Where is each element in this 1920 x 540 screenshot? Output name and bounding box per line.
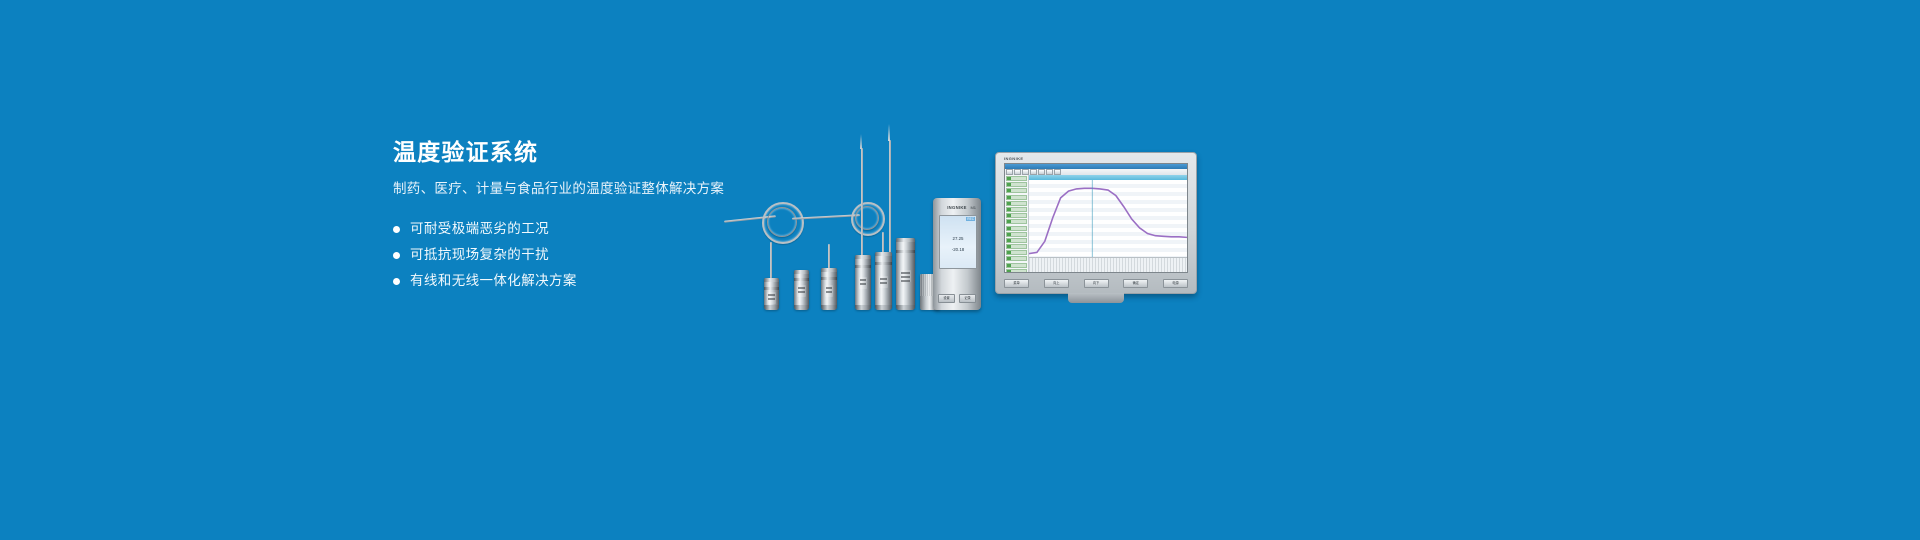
channel-row[interactable] <box>1006 244 1027 249</box>
handheld-key-left[interactable]: 设置 <box>938 294 955 303</box>
monitor-button-row: 菜单 向上 向下 确定 电源 <box>1004 278 1188 289</box>
data-logger-small-1 <box>764 278 779 310</box>
short-probe-stem <box>770 242 772 282</box>
handheld-model-label: M1 <box>970 205 976 210</box>
list-item-label: 有线和无线一体化解决方案 <box>410 272 577 290</box>
channel-row[interactable] <box>1006 195 1027 200</box>
product-photo-group: INGNIKE M1 REC 27.25 -20.18 设置 记录 INGNIK… <box>720 120 1220 310</box>
monitor-button-down[interactable]: 向下 <box>1084 279 1109 288</box>
channel-row[interactable] <box>1006 213 1027 218</box>
data-logger-medium-1 <box>821 268 837 310</box>
probe-coil-large-inner <box>767 207 797 237</box>
channel-row[interactable] <box>1006 269 1027 273</box>
hero-banner: 温度验证系统 制药、医疗、计量与食品行业的温度验证整体解决方案 可耐受极端恶劣的… <box>0 0 1920 540</box>
handheld-rec-badge: REC <box>966 217 975 221</box>
data-logger-medium-3 <box>875 252 892 310</box>
channel-row[interactable] <box>1006 250 1027 255</box>
handheld-reader: INGNIKE M1 REC 27.25 -20.18 设置 记录 <box>933 198 981 310</box>
handheld-reading-1: 27.25 <box>940 236 976 241</box>
channel-row[interactable] <box>1006 182 1027 187</box>
monitor-button-up[interactable]: 向上 <box>1044 279 1069 288</box>
chart-plot-area <box>1029 180 1187 258</box>
chart-series-line <box>1029 188 1187 253</box>
channel-row[interactable] <box>1006 232 1027 237</box>
handheld-reading-2: -20.18 <box>940 247 976 252</box>
channel-row[interactable] <box>1006 238 1027 243</box>
handheld-key-right[interactable]: 记录 <box>959 294 976 303</box>
bullet-dot-icon <box>393 226 400 233</box>
monitor-brand-label: INGNIKE <box>1004 156 1023 161</box>
list-item-label: 可耐受极端恶劣的工况 <box>410 220 549 238</box>
needle-probe-taller-tip <box>888 124 890 141</box>
temperature-chart <box>1029 175 1187 272</box>
monitor-stand <box>1068 293 1124 303</box>
channel-row[interactable] <box>1006 256 1027 261</box>
channel-row[interactable] <box>1006 176 1027 181</box>
channel-row[interactable] <box>1006 219 1027 224</box>
monitor-button-power[interactable]: 电源 <box>1163 279 1188 288</box>
channel-row[interactable] <box>1006 207 1027 212</box>
handheld-keypad: 设置 记录 <box>938 275 976 303</box>
channel-list-sidebar[interactable] <box>1005 175 1029 272</box>
handheld-screen: REC 27.25 -20.18 <box>939 215 977 269</box>
data-logger-small-2 <box>794 270 809 310</box>
bullet-dot-icon <box>393 278 400 285</box>
channel-row[interactable] <box>1006 226 1027 231</box>
chart-svg <box>1029 180 1187 258</box>
monitor-button-ok[interactable]: 确定 <box>1123 279 1148 288</box>
data-logger-large <box>896 238 915 310</box>
channel-row[interactable] <box>1006 263 1027 268</box>
bullet-dot-icon <box>393 252 400 259</box>
list-item-label: 可抵抗现场复杂的干扰 <box>410 246 549 264</box>
probe-coil-small-inner <box>855 206 879 230</box>
channel-row[interactable] <box>1006 188 1027 193</box>
needle-probe-tall-tip <box>860 134 862 149</box>
chart-x-axis <box>1029 257 1187 272</box>
data-logger-medium-2 <box>855 255 871 310</box>
app-body <box>1005 175 1187 272</box>
monitor-screen <box>1004 163 1188 273</box>
monitor-button-menu[interactable]: 菜单 <box>1004 279 1029 288</box>
channel-row[interactable] <box>1006 201 1027 206</box>
monitor-display: INGNIKE <box>995 152 1197 294</box>
